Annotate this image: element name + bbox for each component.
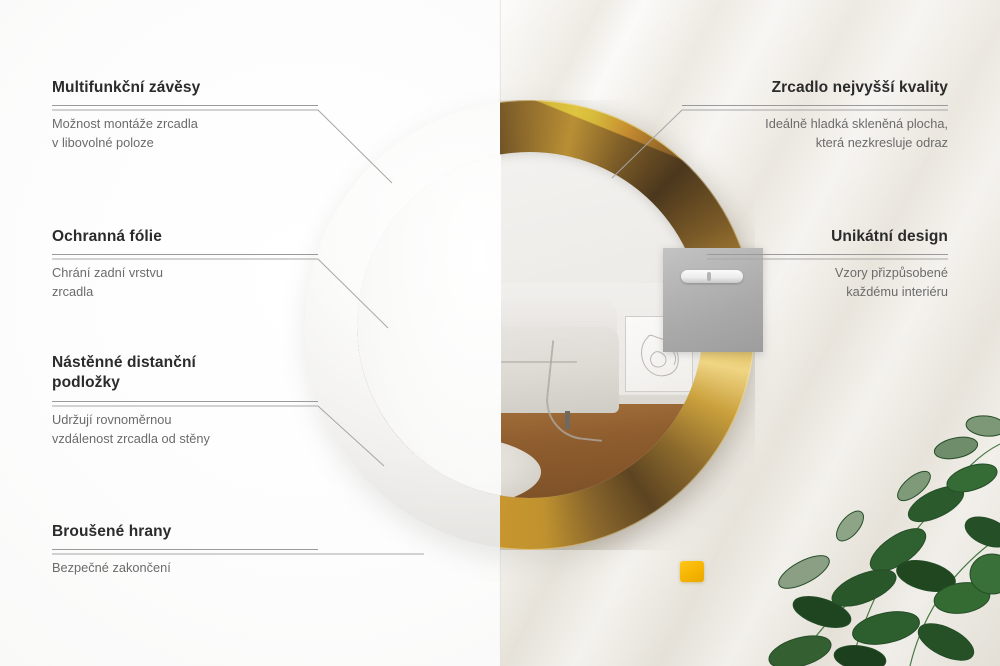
feature-rule [682, 105, 948, 106]
feature-rule [52, 401, 318, 402]
feature-desc-line: každému interiéru [707, 283, 948, 302]
feature-rule [52, 549, 318, 550]
feature-desc-line: vzdálenost zrcadla od stěny [52, 430, 318, 449]
feature-label-protective-film: Ochranná fólie Chrání zadní vrstvu zrcad… [52, 227, 318, 302]
product-mirror [305, 100, 755, 550]
glass-left-highlight [357, 152, 501, 498]
feature-desc-line: Chrání zadní vrstvu [52, 264, 318, 283]
feature-title: Multifunkční závěsy [52, 78, 318, 98]
feature-rule [707, 254, 948, 255]
feature-desc: Udržují rovnoměrnou vzdálenost zrcadla o… [52, 411, 318, 449]
feature-title: Unikátní design [707, 227, 948, 247]
infographic-canvas: Multifunkční závěsy Možnost montáže zrca… [0, 0, 1000, 666]
feature-desc-line: Možnost montáže zrcadla [52, 115, 318, 134]
feature-desc-line: v libovolné poloze [52, 134, 318, 153]
feature-desc-line: která nezkresluje odraz [682, 134, 948, 153]
feature-desc-line: Udržují rovnoměrnou [52, 411, 318, 430]
feature-label-hangers: Multifunkční závěsy Možnost montáže zrca… [52, 78, 318, 153]
wall-spacer-pad [680, 561, 704, 582]
feature-label-spacers: Nástěnné distanční podložky Udržují rovn… [52, 353, 318, 449]
feature-desc: Vzory přizpůsobené každému interiéru [707, 264, 948, 302]
feature-desc: Chrání zadní vrstvu zrcadla [52, 264, 318, 302]
feature-desc-line: zrcadla [52, 283, 318, 302]
feature-title-line: Nástěnné distanční [52, 353, 318, 373]
feature-rule [52, 105, 318, 106]
feature-desc-line: Vzory přizpůsobené [707, 264, 948, 283]
feature-title: Broušené hrany [52, 522, 318, 542]
feature-desc-line: Bezpečné zakončení [52, 559, 318, 578]
feature-label-polished-edges: Broušené hrany Bezpečné zakončení [52, 522, 318, 578]
mirror-glass [357, 152, 703, 498]
feature-rule [52, 254, 318, 255]
feature-label-unique-design: Unikátní design Vzory přizpůsobené každé… [707, 227, 948, 302]
feature-title: Ochranná fólie [52, 227, 318, 247]
feature-title-line: podložky [52, 373, 318, 393]
feature-title: Nástěnné distanční podložky [52, 353, 318, 394]
feature-desc-line: Ideálně hladká skleněná plocha, [682, 115, 948, 134]
feature-desc: Ideálně hladká skleněná plocha, která ne… [682, 115, 948, 153]
feature-desc: Možnost montáže zrcadla v libovolné polo… [52, 115, 318, 153]
feature-desc: Bezpečné zakončení [52, 559, 318, 578]
feature-label-quality-mirror: Zrcadlo nejvyšší kvality Ideálně hladká … [682, 78, 948, 153]
feature-title: Zrcadlo nejvyšší kvality [682, 78, 948, 98]
